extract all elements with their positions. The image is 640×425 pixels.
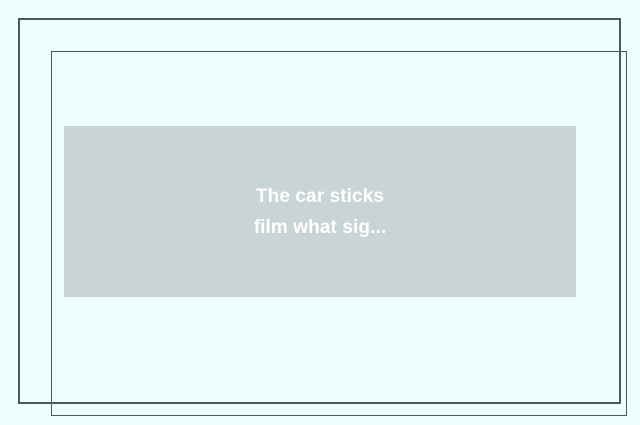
placeholder-caption-line-2: film what sig... [254, 212, 387, 243]
placeholder-caption-line-1: The car sticks [254, 181, 387, 212]
placeholder-caption: The car sticks film what sig... [240, 181, 401, 243]
page-canvas: The car sticks film what sig... [0, 0, 640, 425]
media-placeholder-block[interactable]: The car sticks film what sig... [64, 126, 576, 297]
